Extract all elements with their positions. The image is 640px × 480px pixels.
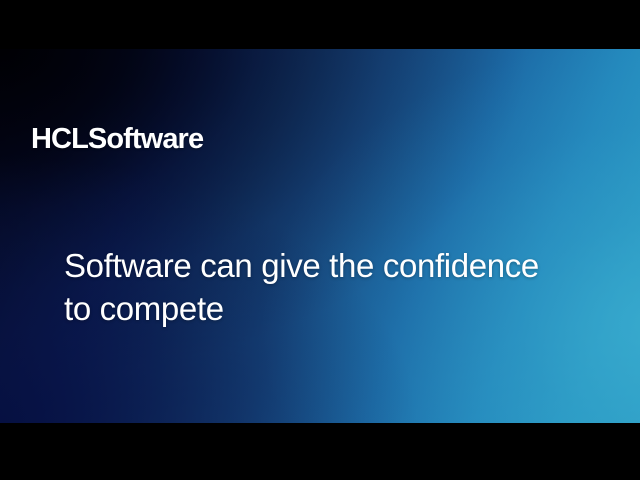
slide-canvas: HCLSoftware Software can give the confid… <box>0 49 640 423</box>
slide-headline-line-2: to compete <box>64 288 594 331</box>
letterbox-bar-top <box>0 0 640 49</box>
slide-headline-line-1: Software can give the confidence <box>64 245 594 288</box>
video-frame: HCLSoftware Software can give the confid… <box>0 0 640 480</box>
letterbox-bar-bottom <box>0 423 640 480</box>
slide-content: HCLSoftware Software can give the confid… <box>0 49 640 423</box>
brand-logo-hclsoftware: HCLSoftware <box>31 125 203 154</box>
slide-headline: Software can give the confidence to comp… <box>64 245 594 330</box>
